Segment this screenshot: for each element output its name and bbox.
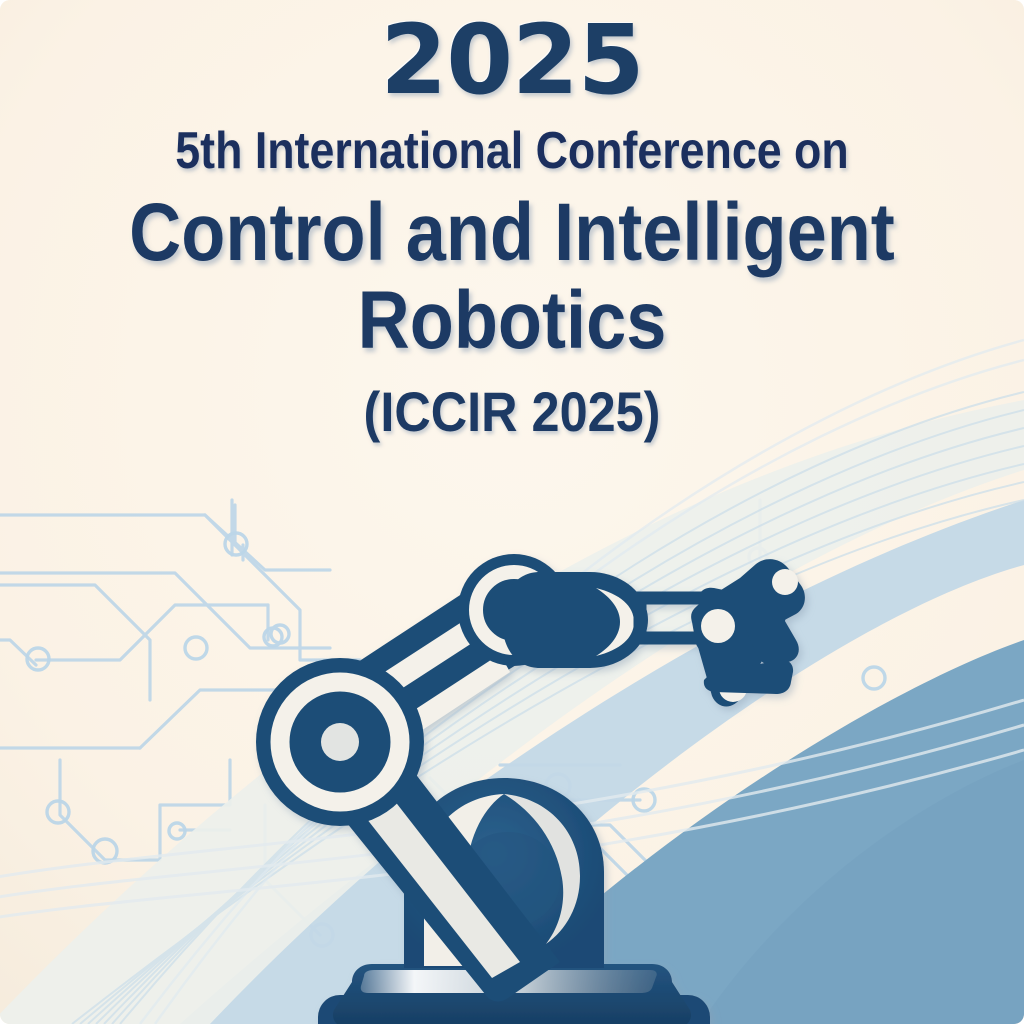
poster-text-block: 2025 5th International Conference on Con… — [0, 0, 1024, 440]
robot-gripper — [691, 559, 805, 706]
year-heading: 2025 — [0, 0, 1024, 108]
conference-edition-line: 5th International Conference on — [72, 124, 953, 179]
conference-poster: 2025 5th International Conference on Con… — [0, 0, 1024, 1024]
page-title: Control and Intelligent Robotics — [61, 189, 962, 366]
conference-acronym: (ICCIR 2025) — [51, 384, 973, 440]
robot-shoulder-joint — [256, 658, 424, 826]
title-line-1: Control and Intelligent — [61, 189, 962, 278]
title-line-2: Robotics — [61, 277, 962, 366]
robot-wrist-segment — [502, 572, 648, 668]
